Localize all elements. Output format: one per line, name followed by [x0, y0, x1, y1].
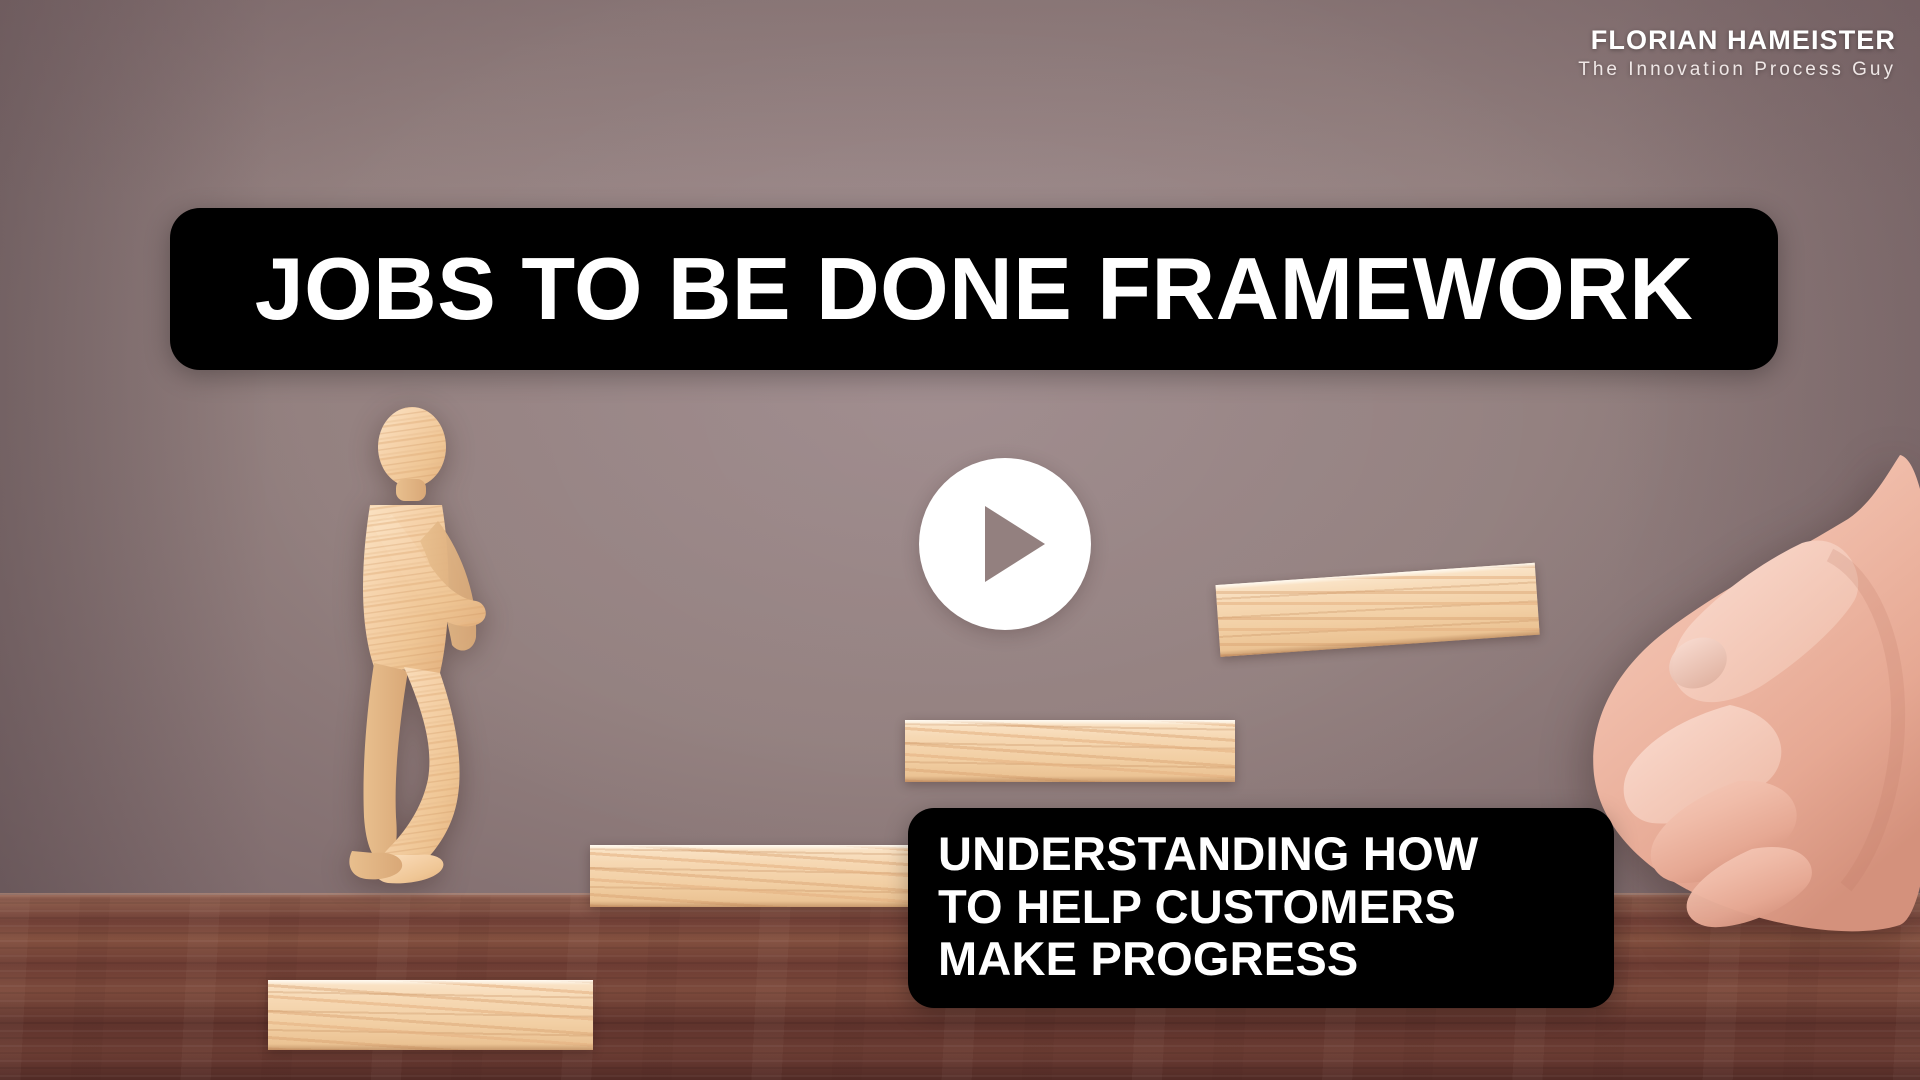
video-thumbnail: FLORIAN HAMEISTER The Innovation Process…	[0, 0, 1920, 1080]
brand-name: FLORIAN HAMEISTER	[1578, 26, 1896, 54]
play-button[interactable]	[919, 458, 1091, 630]
wooden-person-figure	[300, 405, 550, 1005]
page-title: JOBS TO BE DONE FRAMEWORK	[221, 245, 1728, 333]
title-banner: JOBS TO BE DONE FRAMEWORK	[170, 208, 1778, 370]
subtitle-line-1: UNDERSTANDING HOW	[938, 828, 1586, 881]
play-triangle-icon	[985, 506, 1045, 582]
brand-tagline: The Innovation Process Guy	[1578, 57, 1896, 83]
wooden-block-step-2	[590, 845, 915, 907]
wooden-block-step-3	[905, 720, 1235, 782]
subtitle-box: UNDERSTANDING HOW TO HELP CUSTOMERS MAKE…	[908, 808, 1614, 1008]
subtitle-line-3: MAKE PROGRESS	[938, 933, 1586, 986]
brand-lockup: FLORIAN HAMEISTER The Innovation Process…	[1578, 26, 1896, 83]
subtitle-line-2: TO HELP CUSTOMERS	[938, 881, 1586, 934]
